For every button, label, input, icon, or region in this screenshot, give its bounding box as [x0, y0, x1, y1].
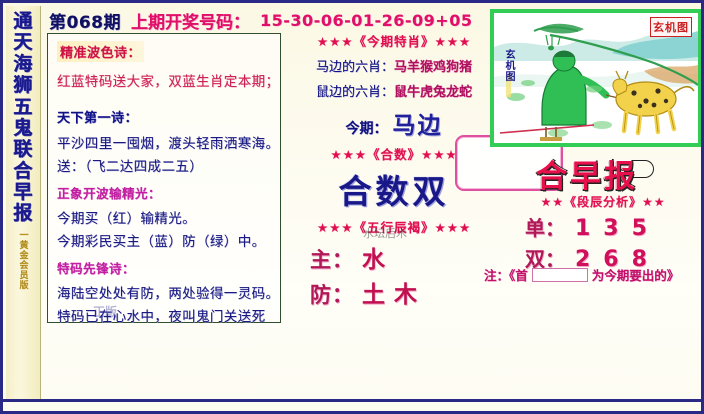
wuxing-guard-row: 防：土木 — [310, 275, 502, 309]
vertical-title-char-3: 狮 — [13, 76, 32, 95]
footer-note-suffix: 为今期要出的》 — [592, 265, 680, 284]
section3-line2: 今期彩民买主（蓝）防（绿）中。 — [57, 230, 277, 250]
spacer-1 — [53, 93, 277, 101]
zodiac-heading: ★★★《今期特肖》★★★ — [286, 31, 502, 50]
wuxing-main-row: 主：水 — [310, 240, 502, 274]
current-period-label: 今期： — [345, 121, 387, 137]
vertical-title-char-6: 联 — [13, 140, 32, 159]
vertical-title-char-7: 合 — [13, 162, 32, 181]
current-period-value: 马边 — [393, 113, 443, 139]
xuanji-illustration: 玄机图 玄机图 — [490, 9, 702, 147]
vertical-title-char-4: 五 — [13, 98, 32, 117]
wuxing-guard-value: 土木 — [362, 282, 426, 308]
vertical-title-char-0: 通 — [13, 12, 32, 31]
last-draw-numbers: 15-30-06-01-26-09+05 — [260, 11, 472, 30]
analysis-heading: ★★《段辰分析》★★ — [503, 193, 703, 210]
section3-line1: 今期买（红）输精光。 — [57, 207, 277, 227]
zodiac-row-2: 鼠边的六肖：鼠牛虎兔龙蛇 — [286, 81, 502, 100]
zodiac-row-1: 马边的六肖：马羊猴鸡狗猪 — [286, 56, 502, 75]
section4-line1: 海陆空处处有防，两处验得一灵码。 — [57, 282, 277, 302]
vertical-title-char-2: 海 — [13, 55, 32, 74]
vertical-title-char-9: 报 — [13, 204, 32, 223]
section2-title: 天下第一诗： — [57, 107, 138, 126]
wuxing-main-value: 水 — [362, 247, 394, 273]
faint-footer-text: 正版 — [93, 303, 243, 319]
section1-title: 精准波色诗： — [57, 41, 144, 62]
last-draw-label: 上期开奖号码： — [131, 8, 250, 33]
bottom-bar — [3, 399, 701, 411]
issue-number: 第068期 — [49, 8, 121, 33]
hezaobao-swirl-icon — [633, 160, 654, 178]
wuxing-guard-key: 防： — [310, 283, 354, 307]
section4-title: 特码先锋诗： — [57, 258, 135, 277]
xuanji-vertical-label: 玄机图 — [501, 49, 516, 82]
zodiac-row-1-value: 马羊猴鸡狗猪 — [394, 60, 472, 75]
ghost-overlay-text: 水坛后木 — [363, 225, 407, 241]
footer-note-prefix: 注：《首 — [484, 265, 528, 284]
vertical-title-char-1: 天 — [13, 33, 32, 52]
zodiac-row-1-label: 马边的六肖： — [316, 60, 394, 75]
wuxing-block: 主：水 防：土木 — [286, 240, 502, 309]
xuanji-stamp: 玄机图 — [650, 17, 692, 37]
vertical-title-subtitle: 一黄金会员版 — [17, 230, 30, 290]
vertical-title-char-5: 鬼 — [13, 119, 32, 138]
header: 第068期 上期开奖号码： 15-30-06-01-26-09+05 — [49, 8, 472, 32]
section2-line2: 送：（飞二达四成二五） — [57, 155, 277, 175]
odd-row: 单：135 — [503, 212, 703, 241]
zodiac-row-2-value: 鼠牛虎兔龙蛇 — [394, 85, 472, 100]
vertical-title-band: 通 天 海 狮 五 鬼 联 合 早 报 一黄金会员版 — [6, 6, 41, 408]
analysis-block: ★★《段辰分析》★★ 单：135 双：268 — [503, 193, 703, 272]
section2-line1: 平沙四里一囤烟，渡头轻雨洒寒海。 — [57, 132, 277, 152]
zodiac-row-2-label: 鼠边的六肖： — [316, 85, 394, 100]
footer-note-blank[interactable] — [532, 268, 588, 282]
section3-title: 正象开波输精光： — [57, 183, 161, 202]
vertical-title-char-8: 早 — [13, 183, 32, 202]
lottery-poster: 通 天 海 狮 五 鬼 联 合 早 报 一黄金会员版 第068期 上期开奖号码：… — [0, 0, 704, 414]
odd-value: 135 — [575, 216, 660, 241]
odd-key: 单： — [525, 216, 565, 240]
hezaobao-text: 合早报 — [536, 159, 638, 195]
left-content-panel: 精准波色诗： 红蓝特码送大家，双蓝生肖定本期； 天下第一诗： 平沙四里一囤烟，渡… — [47, 33, 281, 323]
hezaobao-banner: 合早报 — [536, 151, 638, 196]
wuxing-main-key: 主： — [310, 248, 354, 272]
section1-line1: 红蓝特码送大家，双蓝生肖定本期； — [57, 70, 277, 90]
footer-note: 注：《首 为今期要出的》 — [484, 265, 679, 284]
